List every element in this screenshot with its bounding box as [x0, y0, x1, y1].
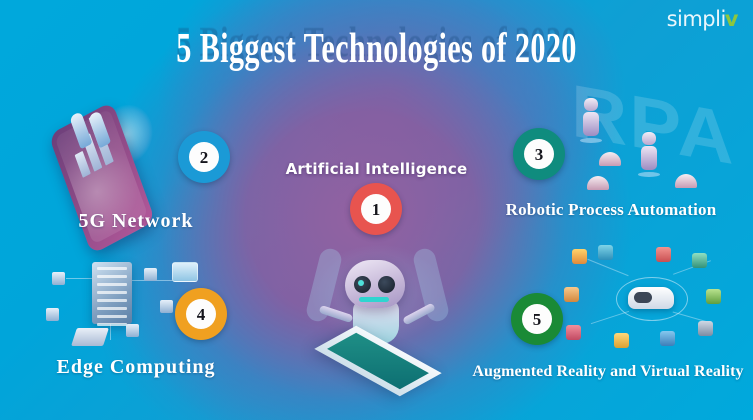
people-group-icon: [698, 321, 713, 336]
people-group-icon: [660, 331, 675, 346]
label-artificial-intelligence: Artificial Intelligence: [0, 160, 753, 178]
monitor-icon: [172, 262, 198, 282]
badge-1-artificial-intelligence[interactable]: 1: [350, 183, 402, 235]
network-wire: [110, 324, 111, 340]
vr-focus-ring-icon: [616, 277, 688, 321]
label-5g-network: 5G Network: [0, 210, 272, 233]
network-link: [591, 311, 629, 324]
people-group-icon: [572, 249, 587, 264]
rpa-robots-illustration: RPA: [565, 80, 750, 200]
network-node-icon: [126, 324, 139, 337]
badge-4-edge-computing[interactable]: 4: [175, 288, 227, 340]
page-title-text: 5 Biggest Technologies of 2020: [105, 28, 647, 70]
network-node-icon: [160, 300, 173, 313]
robot-mouth-icon: [359, 297, 389, 302]
page-title: 5 Biggest Technologies of 2020 5 Biggest…: [0, 28, 753, 70]
person-figure-icon: [69, 111, 92, 149]
people-group-icon: [564, 287, 579, 302]
badge-number: 4: [186, 299, 216, 329]
robot-arm-icon: [402, 302, 436, 325]
people-group-icon: [566, 325, 581, 340]
person-figure-icon: [88, 110, 111, 148]
laptop-icon: [71, 328, 109, 346]
badge-number: 1: [361, 194, 391, 224]
people-group-icon: [692, 253, 707, 268]
network-node-icon: [52, 272, 65, 285]
robot-eye-icon: [354, 276, 371, 293]
robot-wing-icon: [411, 246, 450, 323]
infographic-poster: simpliv 5 Biggest Technologies of 2020 5…: [0, 0, 753, 420]
server-rack-icon: [92, 262, 132, 324]
network-link: [587, 259, 628, 276]
network-link: [673, 312, 712, 324]
robot-wing-icon: [304, 246, 343, 323]
network-wire: [66, 278, 94, 279]
robot-head-icon: [345, 260, 405, 308]
label-augmented-virtual-reality: Augmented Reality and Virtual Reality: [463, 363, 753, 381]
people-group-icon: [598, 245, 613, 260]
arvr-network-illustration: [556, 245, 752, 365]
network-link: [673, 260, 711, 275]
people-group-icon: [614, 333, 629, 348]
microchip-icon: [314, 326, 441, 397]
vr-headset-icon: [628, 287, 674, 309]
ai-robot-illustration: [315, 238, 440, 388]
logo-wordmark: simpli: [667, 9, 726, 30]
robot-figure-icon: [583, 98, 599, 143]
smartphone-signal-icon: [48, 74, 197, 230]
logo-checkmark-icon: v: [725, 9, 738, 30]
robot-aura-icon: [309, 242, 447, 346]
robot-dome-icon: [587, 176, 609, 190]
badge-5-augmented-virtual-reality[interactable]: 5: [511, 293, 563, 345]
network-wire: [132, 280, 176, 281]
robot-arm-icon: [319, 305, 354, 323]
badge-number: 5: [522, 304, 552, 334]
network-node-icon: [144, 268, 157, 281]
robot-torso-icon: [353, 300, 399, 344]
people-group-icon: [656, 247, 671, 262]
network-node-icon: [46, 308, 59, 321]
robot-eye-icon: [378, 276, 395, 293]
people-group-icon: [706, 289, 721, 304]
label-robotic-process-automation: Robotic Process Automation: [471, 200, 751, 220]
simpliv-logo[interactable]: simpliv: [667, 9, 738, 30]
label-edge-computing: Edge Computing: [0, 356, 272, 379]
